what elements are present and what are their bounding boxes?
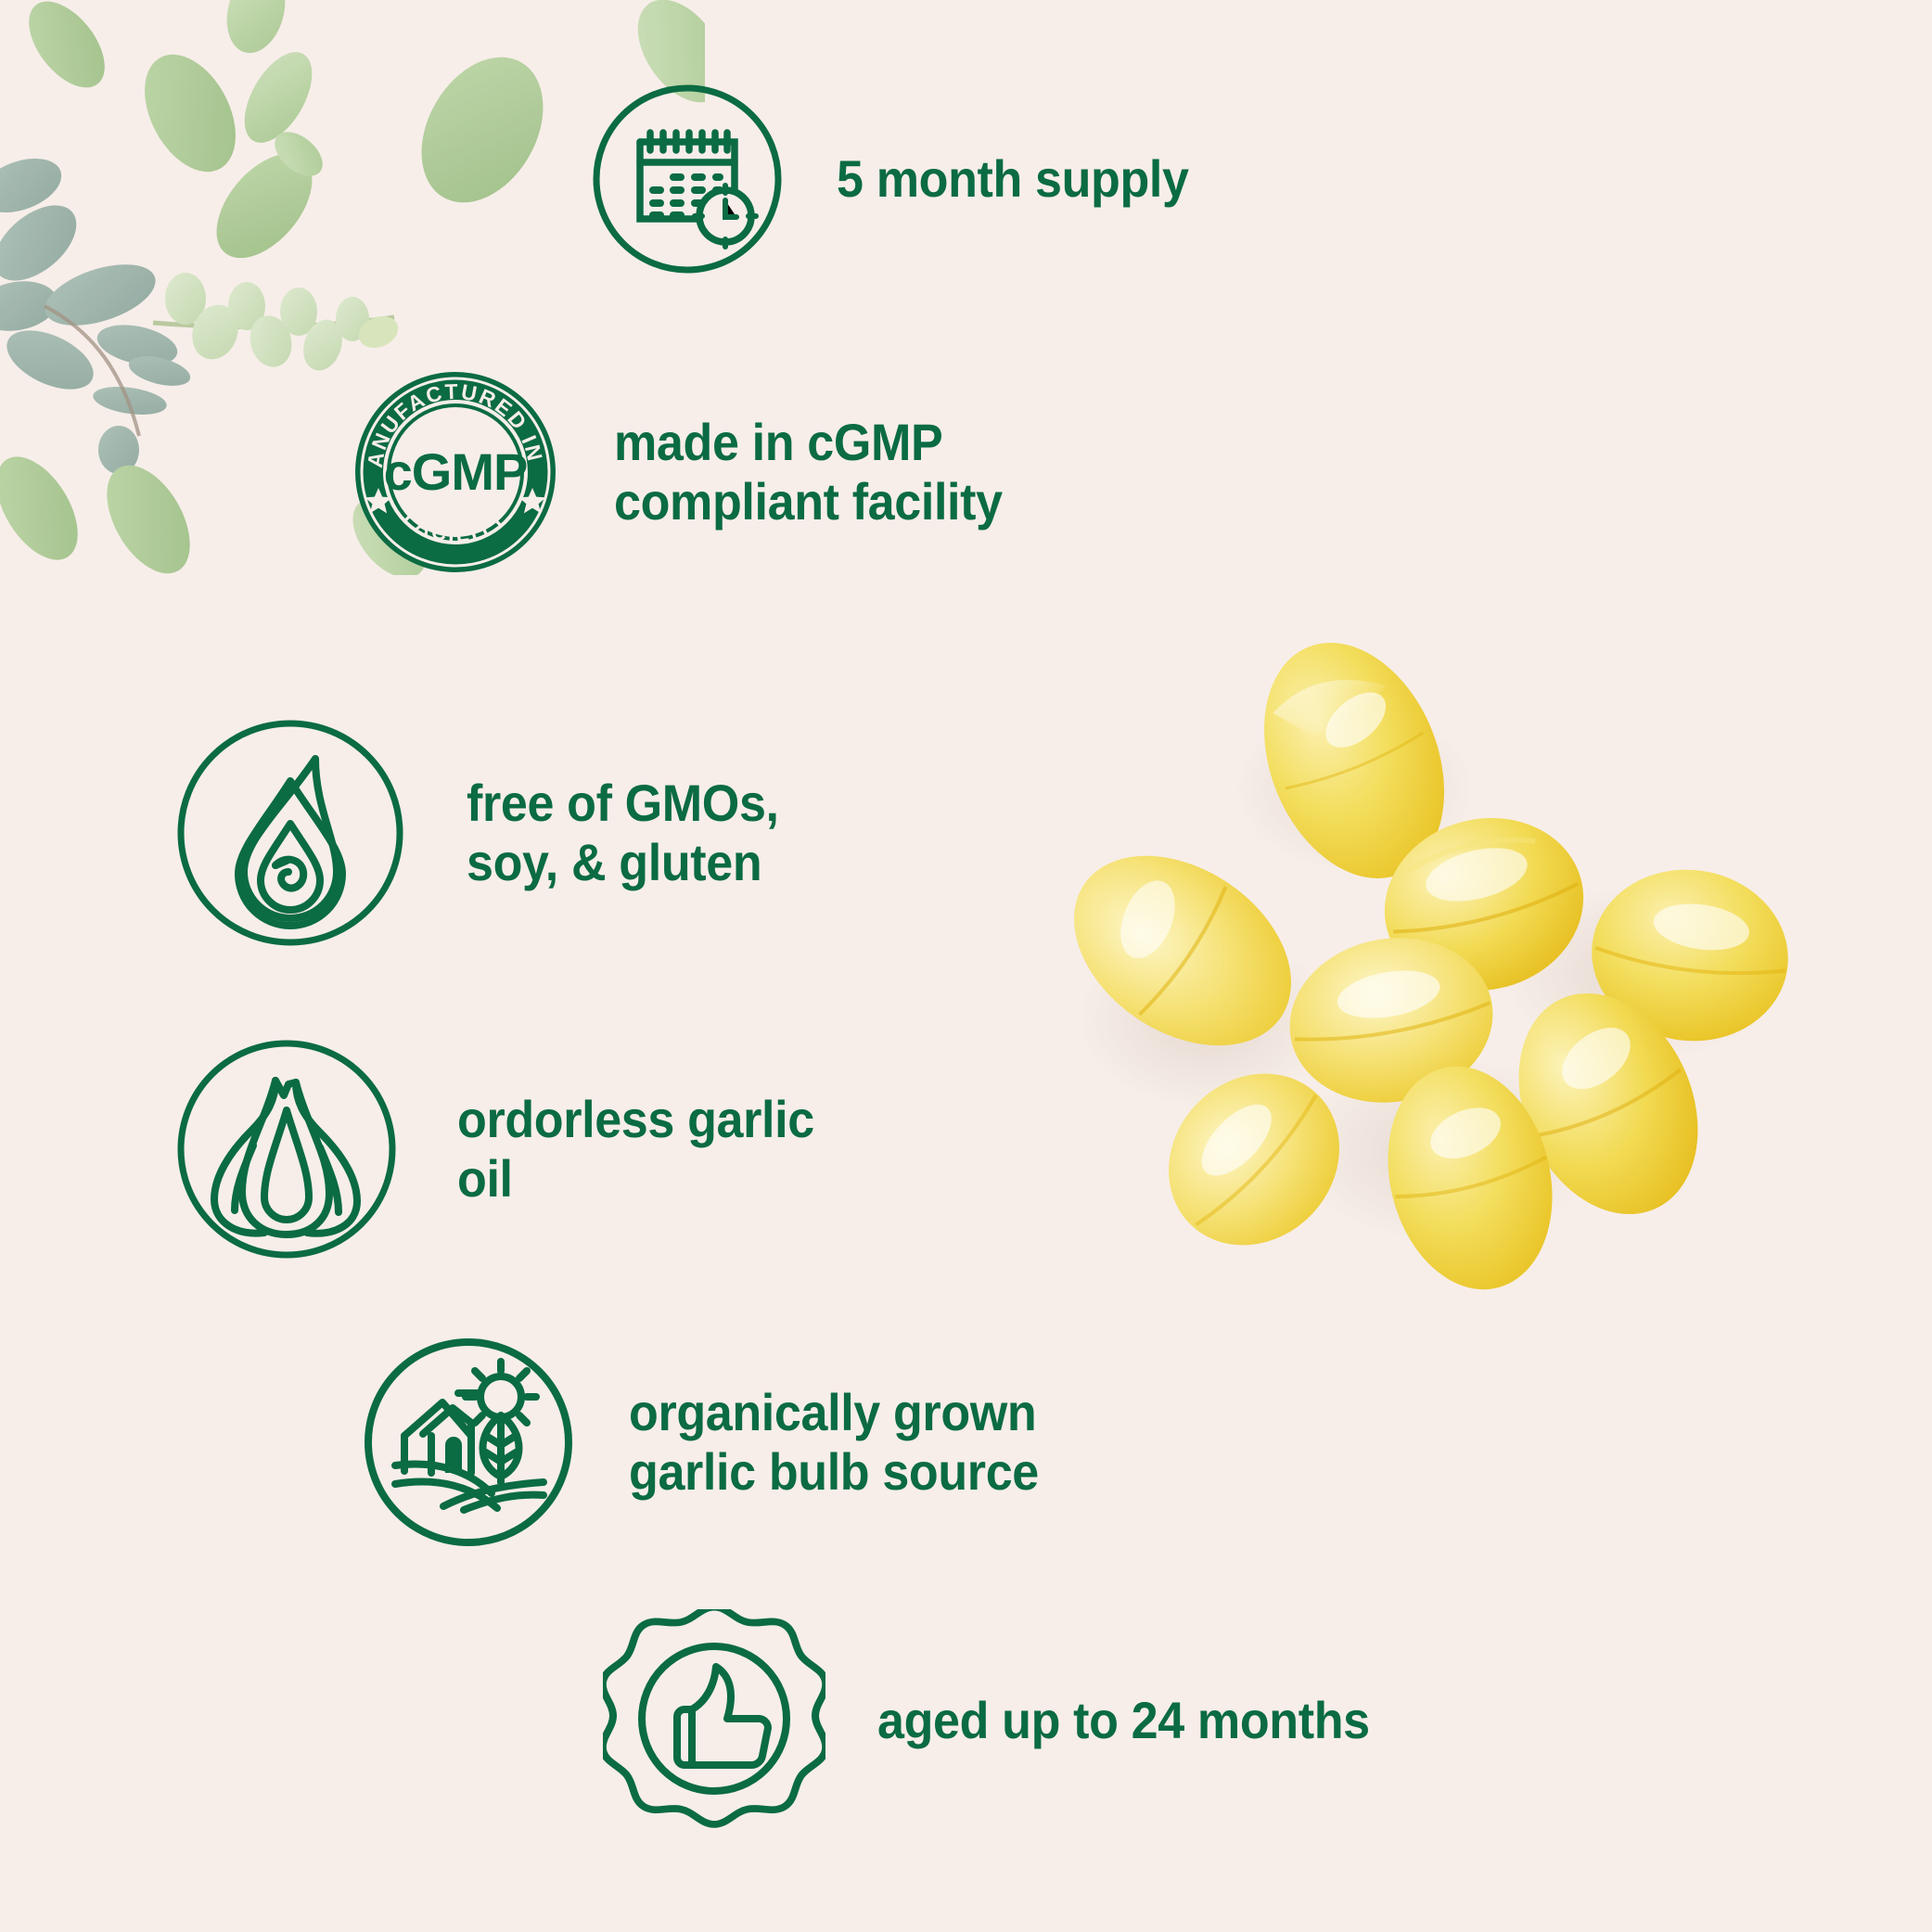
feature-label-odorless: ordorless garlic oil bbox=[457, 1090, 814, 1209]
feature-label-organic: organically grown garlic bulb source bbox=[629, 1383, 1039, 1502]
feature-label-gmo: free of GMOs, soy, & gluten bbox=[467, 774, 779, 892]
cgmp-seal-icon: MANUFACTURED IN A FACILITY cGMP bbox=[352, 369, 558, 575]
feature-label-aged: aged up to 24 months bbox=[877, 1691, 1370, 1750]
feature-row-odorless: ordorless garlic oil bbox=[172, 1034, 841, 1264]
feature-label-supply: 5 month supply bbox=[837, 149, 1189, 209]
feature-row-aged: aged up to 24 months bbox=[603, 1609, 1407, 1832]
feature-row-organic: organically grown garlic bulb source bbox=[362, 1336, 1069, 1549]
calendar-clock-icon bbox=[590, 82, 785, 276]
feature-label-cgmp: made in cGMP compliant facility bbox=[614, 413, 1003, 531]
feature-row-gmo: free of GMOs, soy, & gluten bbox=[172, 714, 802, 952]
cgmp-center-text: cGMP bbox=[384, 442, 528, 501]
infographic-canvas: 5 month supply MANUFACTURED IN A FACILIT… bbox=[0, 0, 1932, 1932]
garlic-bulb-icon bbox=[172, 1034, 402, 1264]
garlic-oil-softgel-capsules-photo bbox=[1048, 584, 1818, 1326]
farm-sun-leaf-icon bbox=[362, 1336, 575, 1549]
feature-row-supply: 5 month supply bbox=[590, 82, 1215, 276]
droplet-spiral-icon bbox=[172, 714, 409, 952]
thumbs-up-rosette-icon bbox=[603, 1609, 825, 1832]
feature-row-cgmp: MANUFACTURED IN A FACILITY cGMP made in … bbox=[352, 369, 1031, 575]
